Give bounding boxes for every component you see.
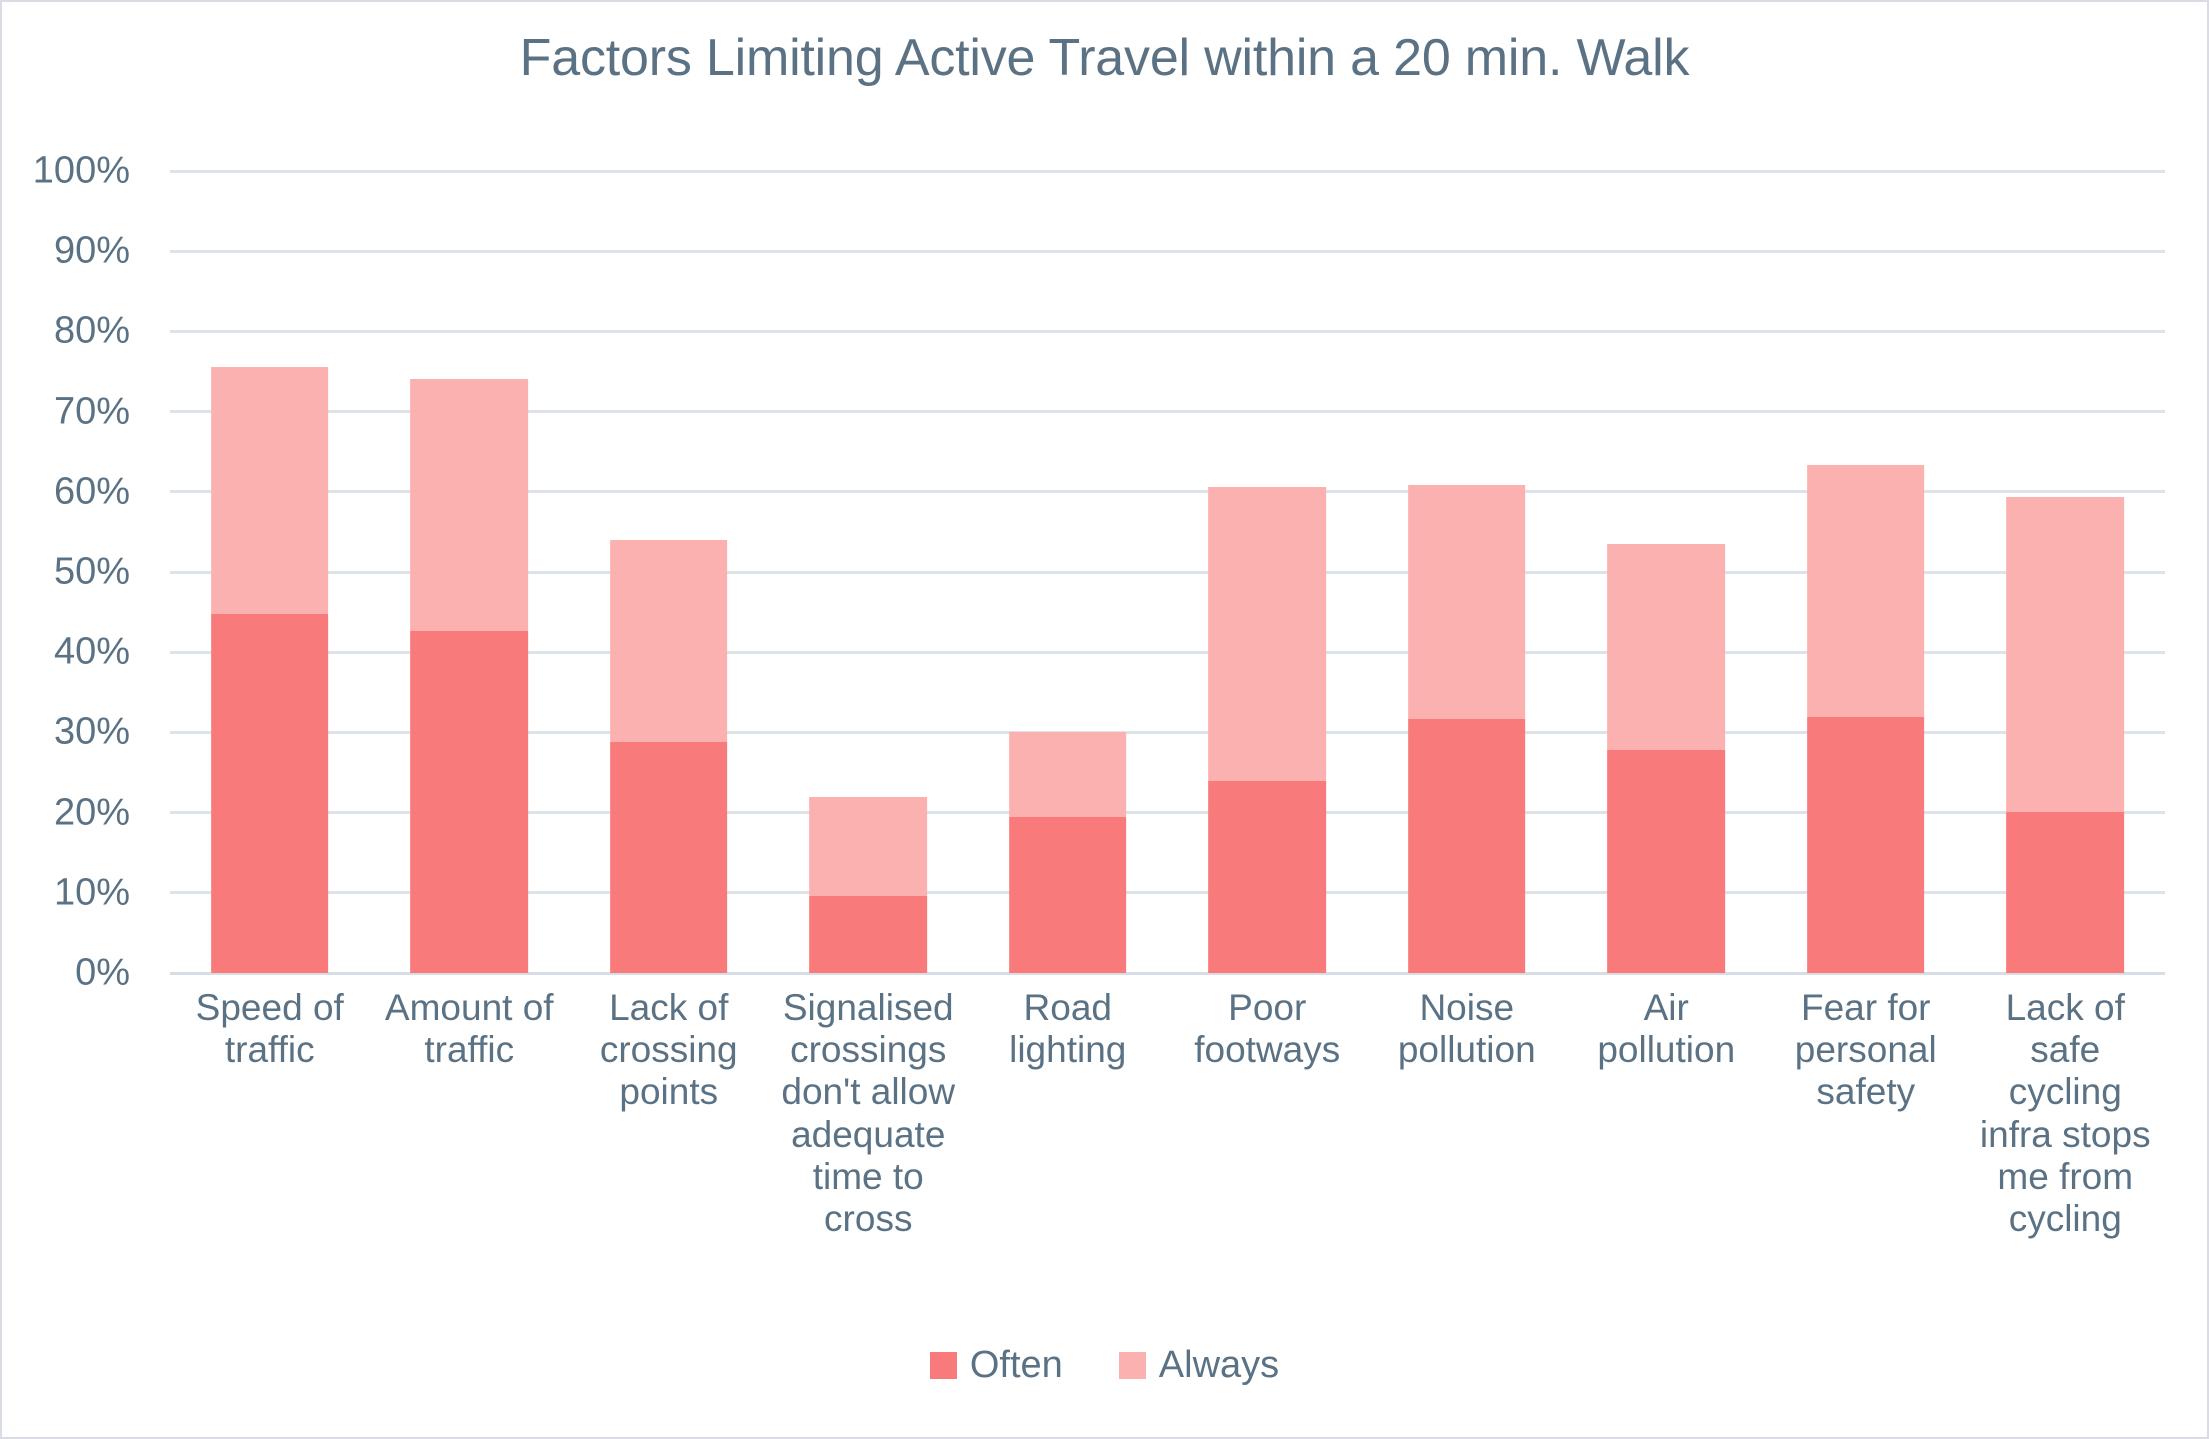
bar-slot (1766, 171, 1966, 973)
x-axis-tick-label: Lack of crossing points (569, 987, 769, 1114)
bar-stack[interactable] (2006, 497, 2124, 973)
bar-segment-often[interactable] (1607, 750, 1725, 973)
legend-item[interactable]: Always (1119, 1346, 1279, 1384)
bar-segment-always[interactable] (1807, 465, 1925, 717)
bar-slot (569, 171, 769, 973)
bar-segment-always[interactable] (610, 540, 728, 742)
y-axis-tick-label: 80% (54, 310, 130, 353)
bar-stack[interactable] (1607, 544, 1725, 973)
bar-segment-often[interactable] (211, 614, 329, 973)
bar-stack[interactable] (211, 367, 329, 973)
bar-slot (1367, 171, 1567, 973)
bar-segment-often[interactable] (410, 631, 528, 973)
bar-stack[interactable] (1408, 485, 1526, 973)
y-axis-tick-label: 10% (54, 871, 130, 914)
chart-legend: OftenAlways (2, 1346, 2207, 1384)
x-axis-tick-label: Signalised crossings don't allow adequat… (769, 987, 969, 1240)
x-axis-tick-label: Amount of traffic (370, 987, 570, 1071)
bar-slot (170, 171, 370, 973)
bar-slot (769, 171, 969, 973)
y-axis-tick-label: 70% (54, 390, 130, 433)
x-axis-tick-label: Air pollution (1567, 987, 1767, 1071)
legend-swatch-icon (930, 1352, 957, 1379)
y-axis-tick-label: 50% (54, 551, 130, 594)
bar-stack[interactable] (809, 797, 927, 973)
chart-title: Factors Limiting Active Travel within a … (2, 28, 2207, 88)
y-axis-tick-label: 90% (54, 230, 130, 273)
bar-slot (1168, 171, 1368, 973)
x-axis-tick-label: Lack of safe cycling infra stops me from… (1966, 987, 2166, 1240)
bar-slot (1567, 171, 1767, 973)
y-axis-tick-label: 20% (54, 791, 130, 834)
bar-segment-often[interactable] (1408, 719, 1526, 973)
bar-slot (1966, 171, 2166, 973)
bar-slot (370, 171, 570, 973)
y-axis-tick-label: 100% (33, 150, 130, 193)
bar-stack[interactable] (610, 540, 728, 973)
x-axis: Speed of trafficAmount of trafficLack of… (170, 987, 2165, 1240)
bar-stack[interactable] (1807, 465, 1925, 973)
x-axis-tick-label: Poor footways (1168, 987, 1368, 1071)
x-axis-tick-label: Road lighting (968, 987, 1168, 1071)
bar-segment-often[interactable] (1807, 717, 1925, 973)
bar-slot (968, 171, 1168, 973)
legend-swatch-icon (1119, 1352, 1146, 1379)
bar-segment-always[interactable] (2006, 497, 2124, 812)
bar-segment-always[interactable] (1607, 544, 1725, 750)
x-axis-tick-label: Speed of traffic (170, 987, 370, 1071)
bar-segment-always[interactable] (1009, 732, 1127, 818)
bar-stack[interactable] (410, 379, 528, 973)
y-axis: 0%10%20%30%40%50%60%70%80%90%100% (2, 171, 152, 973)
y-axis-tick-label: 30% (54, 711, 130, 754)
bar-segment-always[interactable] (1408, 485, 1526, 719)
bar-segment-always[interactable] (1208, 487, 1326, 781)
chart-page: Factors Limiting Active Travel within a … (0, 0, 2209, 1439)
legend-label: Always (1159, 1346, 1279, 1384)
legend-item[interactable]: Often (930, 1346, 1063, 1384)
bar-segment-always[interactable] (211, 367, 329, 614)
bar-segment-often[interactable] (1009, 817, 1127, 973)
x-axis-tick-label: Fear for personal safety (1766, 987, 1966, 1114)
bar-segment-often[interactable] (2006, 812, 2124, 973)
bar-segment-often[interactable] (610, 742, 728, 973)
bars-container (170, 171, 2165, 973)
bar-stack[interactable] (1009, 732, 1127, 973)
bar-segment-always[interactable] (809, 797, 927, 896)
y-axis-tick-label: 60% (54, 470, 130, 513)
y-axis-tick-label: 0% (75, 952, 130, 995)
legend-label: Often (970, 1346, 1063, 1384)
y-axis-tick-label: 40% (54, 631, 130, 674)
bar-segment-often[interactable] (809, 896, 927, 973)
bar-segment-often[interactable] (1208, 781, 1326, 973)
bar-segment-always[interactable] (410, 379, 528, 632)
x-axis-tick-label: Noise pollution (1367, 987, 1567, 1071)
bar-stack[interactable] (1208, 487, 1326, 973)
